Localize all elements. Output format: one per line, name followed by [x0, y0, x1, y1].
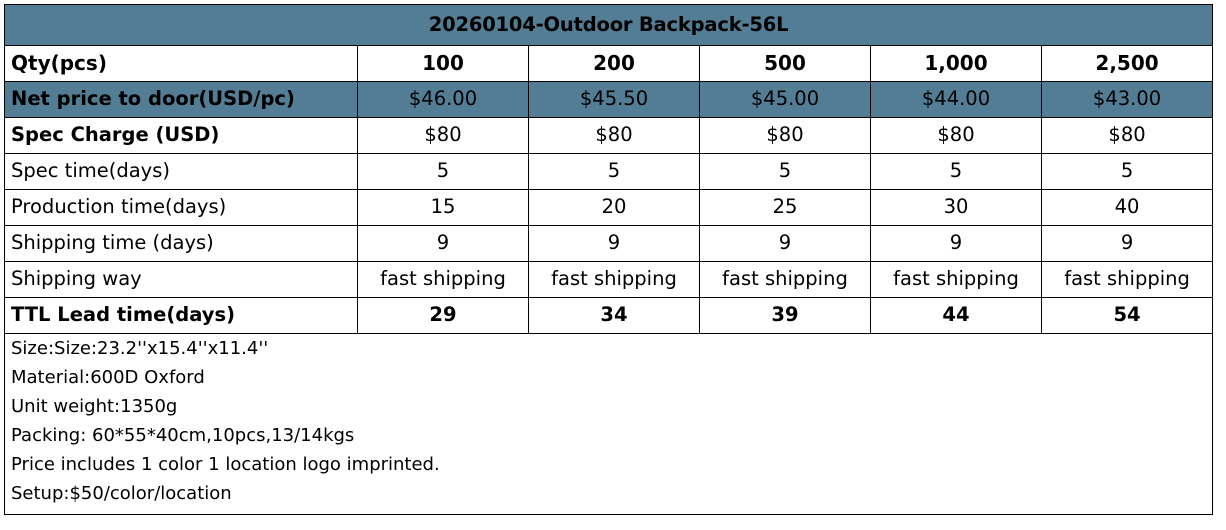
- net-price-value-5: $43.00: [1042, 82, 1213, 118]
- ttl-lead-time-value-1: 29: [358, 298, 529, 334]
- product-notes: Size:Size:23.2''x15.4''x11.4'' Material:…: [5, 334, 1213, 515]
- shipping-way-value-5: fast shipping: [1042, 262, 1213, 298]
- row-label-ttl-lead-time: TTL Lead time(days): [5, 298, 358, 334]
- row-label-spec-charge: Spec Charge (USD): [5, 118, 358, 154]
- net-price-value-2: $45.50: [529, 82, 700, 118]
- net-price-value-4: $44.00: [871, 82, 1042, 118]
- qty-value-2: 200: [529, 46, 700, 82]
- table-row-spec-time: Spec time(days) 5 5 5 5 5: [5, 154, 1213, 190]
- notes-row: Size:Size:23.2''x15.4''x11.4'' Material:…: [5, 334, 1213, 515]
- notes-list: Size:Size:23.2''x15.4''x11.4'' Material:…: [11, 334, 1206, 508]
- note-setup: Setup:$50/color/location: [11, 479, 1206, 508]
- production-time-value-2: 20: [529, 190, 700, 226]
- table-row-quantity: Qty(pcs) 100 200 500 1,000 2,500: [5, 46, 1213, 82]
- shipping-way-value-2: fast shipping: [529, 262, 700, 298]
- spec-charge-value-3: $80: [700, 118, 871, 154]
- note-unit-weight: Unit weight:1350g: [11, 392, 1206, 421]
- shipping-time-value-2: 9: [529, 226, 700, 262]
- note-packing: Packing: 60*55*40cm,10pcs,13/14kgs: [11, 421, 1206, 450]
- qty-value-5: 2,500: [1042, 46, 1213, 82]
- qty-value-4: 1,000: [871, 46, 1042, 82]
- quotation-sheet: 20260104-Outdoor Backpack-56L Qty(pcs) 1…: [0, 0, 1226, 530]
- row-label-production-time: Production time(days): [5, 190, 358, 226]
- net-price-value-1: $46.00: [358, 82, 529, 118]
- production-time-value-4: 30: [871, 190, 1042, 226]
- table-row-shipping-way: Shipping way fast shipping fast shipping…: [5, 262, 1213, 298]
- qty-value-3: 500: [700, 46, 871, 82]
- spec-time-value-2: 5: [529, 154, 700, 190]
- net-price-value-3: $45.00: [700, 82, 871, 118]
- ttl-lead-time-value-5: 54: [1042, 298, 1213, 334]
- spec-charge-value-1: $80: [358, 118, 529, 154]
- table-row-production-time: Production time(days) 15 20 25 30 40: [5, 190, 1213, 226]
- row-label-spec-time: Spec time(days): [5, 154, 358, 190]
- spec-time-value-5: 5: [1042, 154, 1213, 190]
- shipping-time-value-1: 9: [358, 226, 529, 262]
- spec-charge-value-5: $80: [1042, 118, 1213, 154]
- ttl-lead-time-value-2: 34: [529, 298, 700, 334]
- shipping-time-value-3: 9: [700, 226, 871, 262]
- note-price-includes: Price includes 1 color 1 location logo i…: [11, 450, 1206, 479]
- table-row-spec-charge: Spec Charge (USD) $80 $80 $80 $80 $80: [5, 118, 1213, 154]
- page-title: 20260104-Outdoor Backpack-56L: [5, 5, 1213, 46]
- shipping-time-value-4: 9: [871, 226, 1042, 262]
- production-time-value-1: 15: [358, 190, 529, 226]
- production-time-value-3: 25: [700, 190, 871, 226]
- row-label-shipping-time: Shipping time (days): [5, 226, 358, 262]
- shipping-way-value-1: fast shipping: [358, 262, 529, 298]
- production-time-value-5: 40: [1042, 190, 1213, 226]
- row-label-shipping-way: Shipping way: [5, 262, 358, 298]
- table-row-ttl-lead-time: TTL Lead time(days) 29 34 39 44 54: [5, 298, 1213, 334]
- row-label-qty: Qty(pcs): [5, 46, 358, 82]
- ttl-lead-time-value-3: 39: [700, 298, 871, 334]
- ttl-lead-time-value-4: 44: [871, 298, 1042, 334]
- note-material: Material:600D Oxford: [11, 363, 1206, 392]
- spec-time-value-1: 5: [358, 154, 529, 190]
- title-row: 20260104-Outdoor Backpack-56L: [5, 5, 1213, 46]
- qty-value-1: 100: [358, 46, 529, 82]
- spec-charge-value-4: $80: [871, 118, 1042, 154]
- shipping-way-value-4: fast shipping: [871, 262, 1042, 298]
- spec-time-value-3: 5: [700, 154, 871, 190]
- row-label-net-price: Net price to door(USD/pc): [5, 82, 358, 118]
- table-row-shipping-time: Shipping time (days) 9 9 9 9 9: [5, 226, 1213, 262]
- quotation-table: 20260104-Outdoor Backpack-56L Qty(pcs) 1…: [4, 4, 1213, 515]
- spec-time-value-4: 5: [871, 154, 1042, 190]
- spec-charge-value-2: $80: [529, 118, 700, 154]
- note-size: Size:Size:23.2''x15.4''x11.4'': [11, 334, 1206, 363]
- table-row-net-price: Net price to door(USD/pc) $46.00 $45.50 …: [5, 82, 1213, 118]
- shipping-way-value-3: fast shipping: [700, 262, 871, 298]
- shipping-time-value-5: 9: [1042, 226, 1213, 262]
